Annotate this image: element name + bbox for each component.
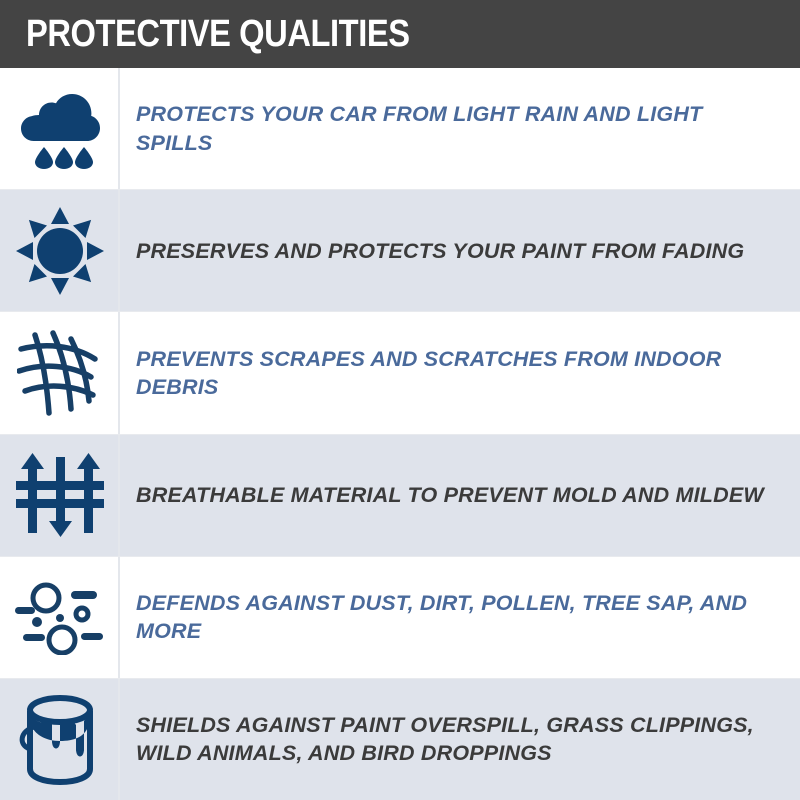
protective-qualities-infographic: PROTECTIVE QUALITIES PROTECTS YOUR CAR F…: [0, 0, 800, 800]
icon-cell: [0, 679, 120, 800]
icon-cell: [0, 557, 120, 678]
sun-icon: [16, 207, 104, 295]
rain-cloud-icon: [17, 89, 103, 169]
feature-text: SHIELDS AGAINST PAINT OVERSPILL, GRASS C…: [136, 711, 774, 768]
feature-text: PROTECTS YOUR CAR FROM LIGHT RAIN AND LI…: [136, 100, 774, 157]
text-cell: BREATHABLE MATERIAL TO PREVENT MOLD AND …: [120, 435, 800, 556]
feature-text: DEFENDS AGAINST DUST, DIRT, POLLEN, TREE…: [136, 589, 774, 646]
feature-row: BREATHABLE MATERIAL TO PREVENT MOLD AND …: [0, 434, 800, 556]
text-cell: SHIELDS AGAINST PAINT OVERSPILL, GRASS C…: [120, 679, 800, 800]
feature-row: DEFENDS AGAINST DUST, DIRT, POLLEN, TREE…: [0, 556, 800, 678]
paint-can-icon: [18, 693, 102, 785]
text-cell: PRESERVES AND PROTECTS YOUR PAINT FROM F…: [120, 190, 800, 311]
feature-text: BREATHABLE MATERIAL TO PREVENT MOLD AND …: [136, 481, 764, 509]
feature-row: PREVENTS SCRAPES AND SCRATCHES FROM INDO…: [0, 311, 800, 433]
header-bar: PROTECTIVE QUALITIES: [0, 0, 800, 68]
feature-row: SHIELDS AGAINST PAINT OVERSPILL, GRASS C…: [0, 678, 800, 800]
feature-rows: PROTECTS YOUR CAR FROM LIGHT RAIN AND LI…: [0, 68, 800, 800]
icon-cell: [0, 312, 120, 433]
mesh-net-icon: [17, 329, 103, 417]
icon-cell: [0, 68, 120, 189]
feature-text: PRESERVES AND PROTECTS YOUR PAINT FROM F…: [136, 237, 744, 265]
feature-row: PROTECTS YOUR CAR FROM LIGHT RAIN AND LI…: [0, 68, 800, 189]
icon-cell: [0, 435, 120, 556]
icon-cell: [0, 190, 120, 311]
feature-text: PREVENTS SCRAPES AND SCRATCHES FROM INDO…: [136, 345, 774, 402]
text-cell: DEFENDS AGAINST DUST, DIRT, POLLEN, TREE…: [120, 557, 800, 678]
text-cell: PROTECTS YOUR CAR FROM LIGHT RAIN AND LI…: [120, 68, 800, 189]
page-title: PROTECTIVE QUALITIES: [26, 15, 410, 53]
feature-row: PRESERVES AND PROTECTS YOUR PAINT FROM F…: [0, 189, 800, 311]
breathable-arrows-icon: [16, 453, 104, 537]
dust-particles-icon: [15, 579, 105, 655]
text-cell: PREVENTS SCRAPES AND SCRATCHES FROM INDO…: [120, 312, 800, 433]
